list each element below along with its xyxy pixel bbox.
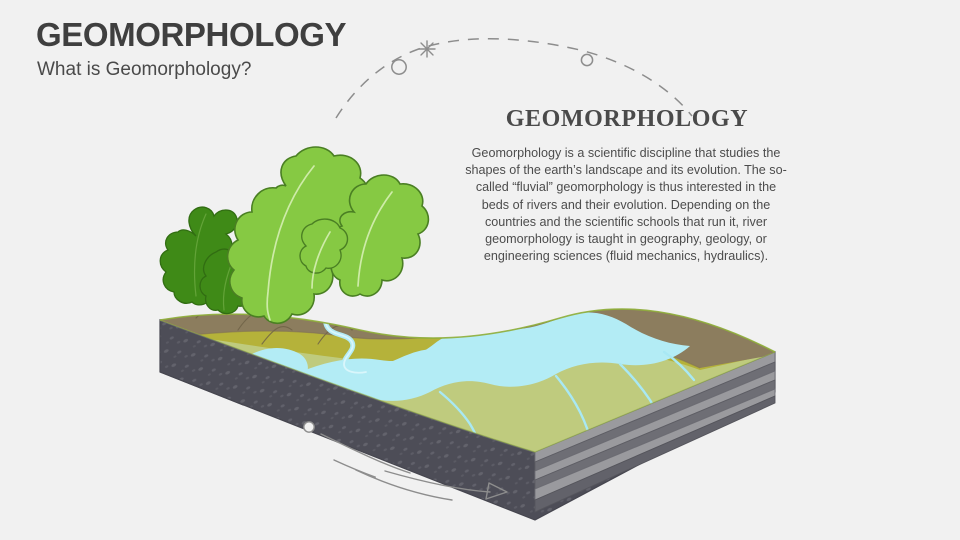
decor-circle-right [581, 54, 592, 65]
page-title: GEOMORPHOLOGY [36, 16, 346, 54]
decor-circle-bottom [304, 422, 314, 432]
page-subtitle: What is Geomorphology? [37, 58, 251, 83]
arrow-head-icon [486, 483, 507, 499]
slide-canvas: GEOMORPHOLOGY What is Geomorphology? GEO… [0, 0, 960, 540]
motion-lines [321, 434, 490, 500]
decor-circle-left [392, 60, 406, 74]
panel-body-text: Geomorphology is a scientific discipline… [462, 145, 790, 265]
panel-heading: GEOMORPHOLOGY [462, 106, 792, 133]
sparkle-icon [419, 41, 435, 57]
